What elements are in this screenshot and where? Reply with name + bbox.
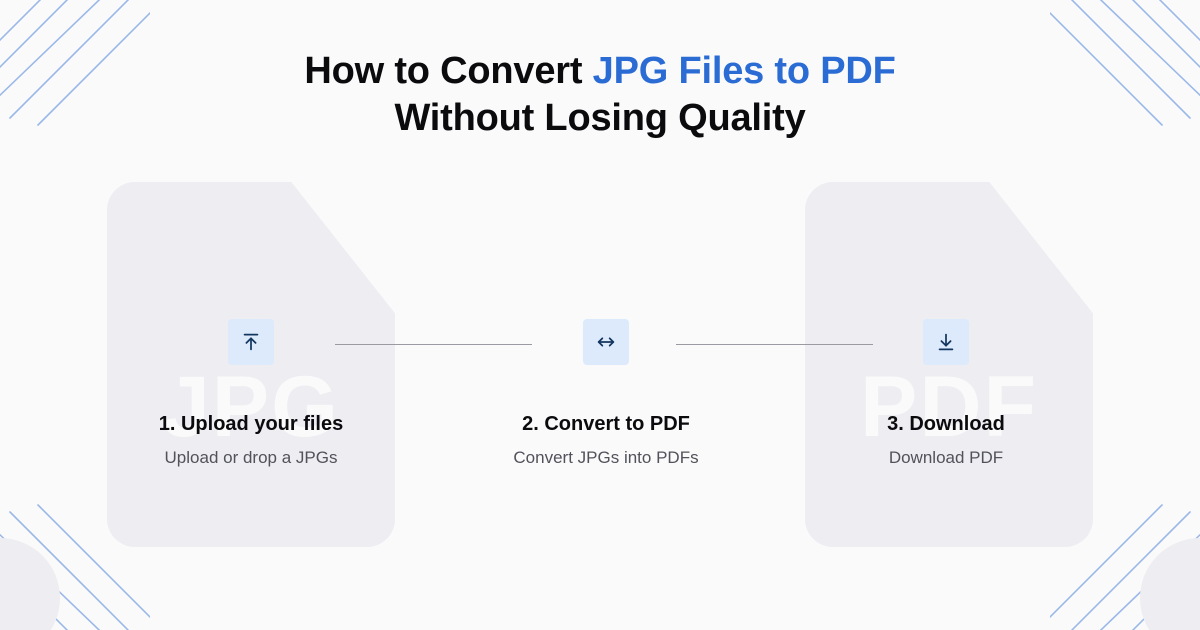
corner-blob-bottom-left bbox=[0, 538, 60, 630]
page-title-line1-prefix: How to Convert bbox=[304, 50, 592, 92]
download-icon bbox=[935, 331, 957, 353]
upload-icon-box bbox=[228, 319, 274, 365]
page-title: How to Convert JPG Files to PDF Without … bbox=[0, 48, 1200, 141]
convert-arrows-icon bbox=[595, 331, 617, 353]
step-download: 3. Download Download PDF bbox=[796, 319, 1096, 468]
step-upload: 1. Upload your files Upload or drop a JP… bbox=[101, 319, 401, 468]
convert-arrows-icon-box bbox=[583, 319, 629, 365]
step-description: Convert JPGs into PDFs bbox=[456, 448, 756, 468]
steps-diagram: JPG PDF 1. Upload your files Upload or d… bbox=[0, 182, 1200, 547]
step-title: 1. Upload your files bbox=[101, 412, 401, 436]
step-title: 3. Download bbox=[796, 412, 1096, 436]
step-convert: 2. Convert to PDF Convert JPGs into PDFs bbox=[456, 319, 756, 468]
step-description: Download PDF bbox=[796, 448, 1096, 468]
page-title-line2: Without Losing Quality bbox=[394, 97, 805, 139]
page-title-line1-accent: JPG Files to PDF bbox=[593, 50, 896, 92]
step-title: 2. Convert to PDF bbox=[456, 412, 756, 436]
download-icon-box bbox=[923, 319, 969, 365]
step-description: Upload or drop a JPGs bbox=[101, 448, 401, 468]
corner-blob-bottom-right bbox=[1140, 538, 1200, 630]
upload-icon bbox=[240, 331, 262, 353]
